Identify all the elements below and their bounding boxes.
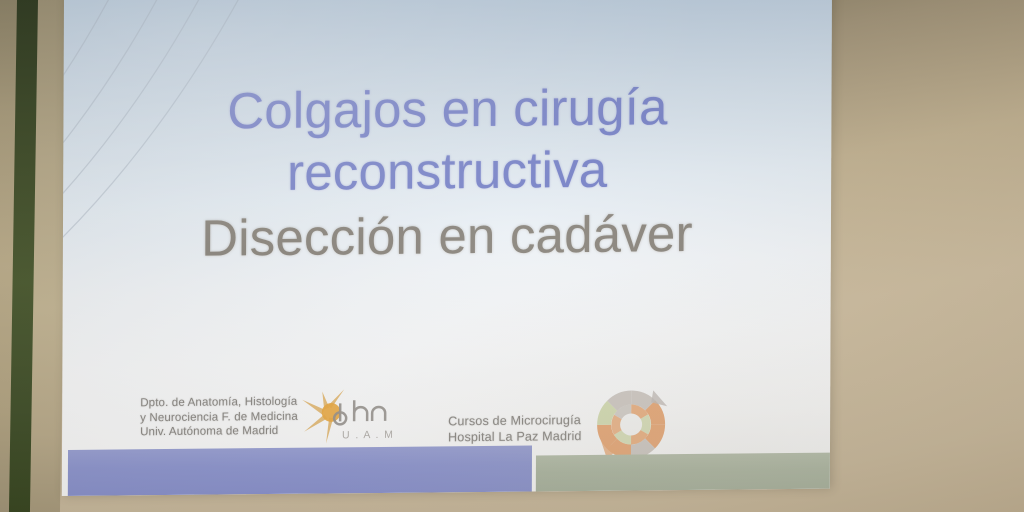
subtitle-line-1: Disección en cadáver bbox=[63, 203, 831, 270]
microcirugia-logo-text: Cursos de Microcirugía Hospital La Paz M… bbox=[448, 412, 582, 446]
microcirugia-logo-text-line-1: Cursos de Microcirugía bbox=[448, 412, 582, 430]
uam-logo-text-line-1: Dpto. de Anatomía, Histología bbox=[140, 395, 298, 411]
uam-logo-text-line-2: y Neurociencia F. de Medicina bbox=[140, 409, 298, 425]
uam-logo-group: Dpto. de Anatomía, Histología y Neurocie… bbox=[140, 387, 398, 447]
uam-mark-subtext: U . A . M bbox=[342, 429, 394, 442]
uam-sunburst-mark-icon: U . A . M bbox=[302, 387, 398, 446]
slide-bottom-bar-sage bbox=[536, 453, 830, 492]
projected-slide: Colgajos en cirugía reconstructiva Disec… bbox=[62, 0, 832, 496]
title-line-2: reconstructiva bbox=[63, 137, 831, 206]
slide-title-block: Colgajos en cirugía reconstructiva Disec… bbox=[63, 75, 832, 270]
microcirugia-logo-text-line-2: Hospital La Paz Madrid bbox=[448, 428, 582, 446]
uam-logo-text: Dpto. de Anatomía, Histología y Neurocie… bbox=[140, 395, 298, 440]
title-line-1: Colgajos en cirugía bbox=[63, 75, 831, 144]
uam-logo-text-line-3: Univ. Autónoma de Madrid bbox=[140, 424, 298, 440]
photo-scene: Colgajos en cirugía reconstructiva Disec… bbox=[0, 0, 1024, 512]
slide-bottom-bar-periwinkle bbox=[68, 446, 532, 496]
